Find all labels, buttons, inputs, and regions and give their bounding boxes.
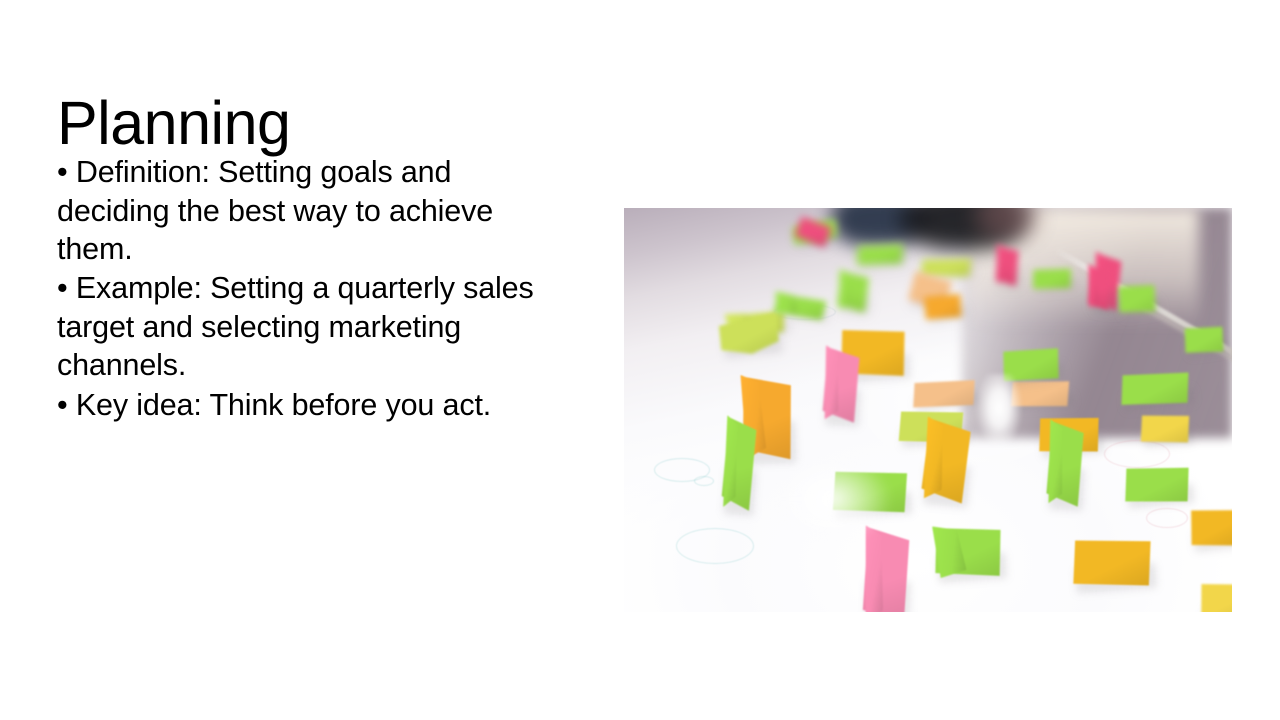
sticky-note: [1046, 421, 1084, 507]
page-title: Planning: [57, 89, 290, 157]
sticky-note: [773, 293, 827, 320]
sticky-notes-on-whiteboard-photo: [624, 208, 1232, 612]
sticky-note: [922, 291, 964, 323]
sticky-note: [1088, 266, 1111, 310]
board-glare-secondary: [772, 454, 892, 544]
bullet-item-key-idea: • Key idea: Think before you act.: [57, 386, 569, 425]
sticky-note: [1122, 463, 1191, 507]
sticky-note: [1198, 580, 1232, 612]
sticky-note: [855, 242, 905, 269]
sticky-note-face: [1122, 463, 1191, 507]
sticky-note: [1070, 535, 1153, 590]
sticky-note-face: [1070, 535, 1153, 590]
sticky-note-face: [1031, 266, 1073, 292]
sticky-note: [911, 377, 978, 412]
sticky-note-face: [1188, 505, 1232, 550]
sticky-note-face: [1198, 580, 1232, 612]
bullet-list: • Definition: Setting goals and deciding…: [57, 153, 569, 425]
bullet-item-example: • Example: Setting a quarterly sales tar…: [57, 269, 569, 385]
sticky-note: [837, 271, 870, 313]
sticky-note: [1188, 505, 1232, 550]
sticky-note: [1118, 368, 1191, 409]
bullet-item-definition: • Definition: Setting goals and deciding…: [57, 153, 569, 269]
board-specular-highlight: [976, 374, 1022, 450]
whiteboard-surface: [624, 208, 1232, 612]
sticky-note: [1182, 323, 1226, 356]
sticky-note: [995, 246, 1018, 287]
sticky-note-face: [1116, 282, 1158, 317]
marker-mark: [694, 476, 714, 486]
sticky-note: [1116, 282, 1158, 317]
sticky-note: [1139, 412, 1191, 445]
sticky-note: [721, 417, 757, 511]
marker-mark: [1146, 508, 1188, 528]
sticky-note-flap: [773, 291, 799, 315]
sticky-note: [921, 418, 972, 504]
slide-canvas: Planning • Definition: Setting goals and…: [0, 0, 1280, 720]
marker-mark: [676, 528, 754, 564]
sticky-note-face: [1139, 412, 1191, 445]
sticky-note: [718, 313, 780, 357]
sticky-note: [822, 347, 860, 423]
sticky-note: [1031, 266, 1073, 292]
sticky-note: [932, 524, 1003, 581]
